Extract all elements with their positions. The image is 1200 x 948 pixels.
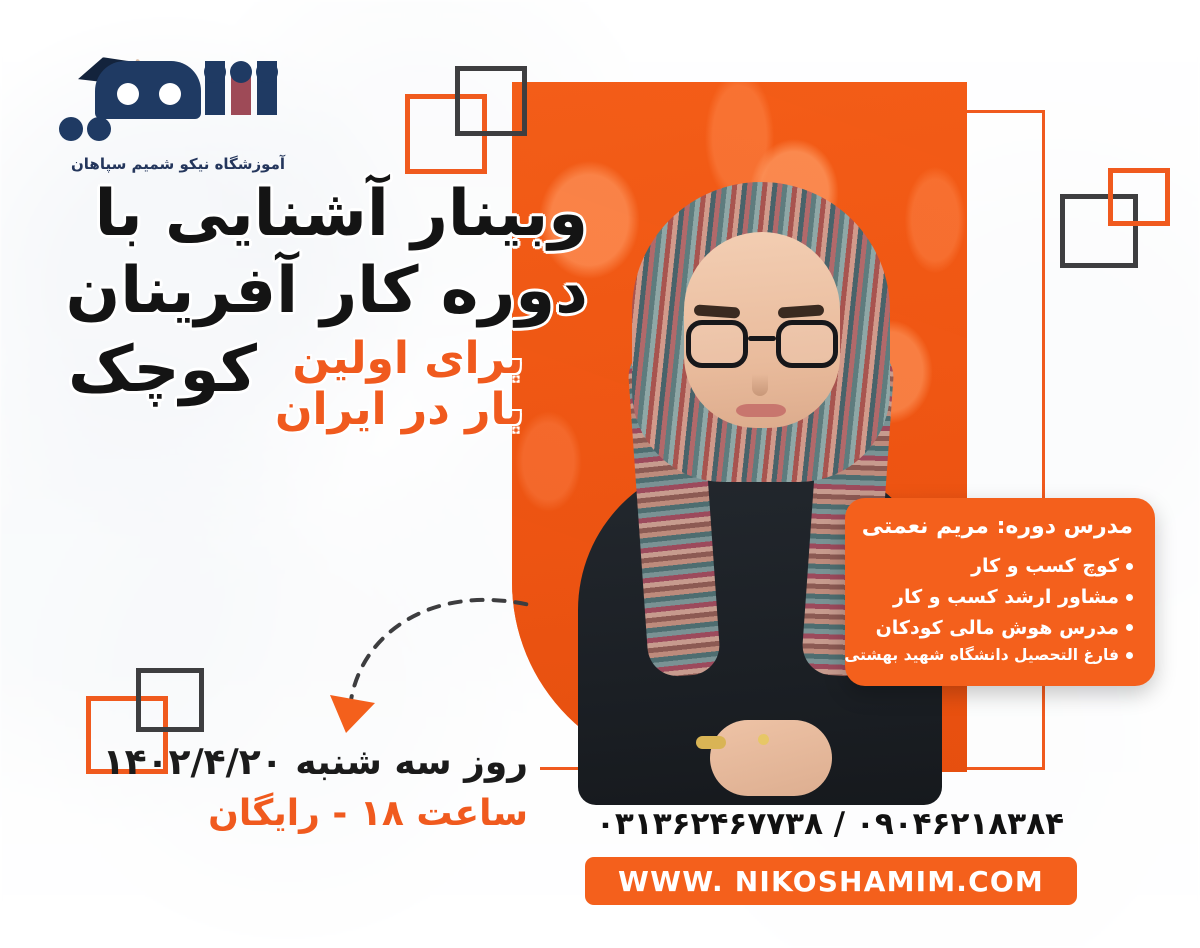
headline-line-3: کوچک — [68, 334, 257, 407]
phone-numbers[interactable]: ۰۳۱۳۶۲۴۶۷۷۳۸ / ۰۹۰۴۶۲۱۸۳۸۴ — [575, 806, 1085, 842]
glasses-bridge — [748, 336, 776, 341]
decor-square-gray — [136, 668, 204, 732]
list-item: فارغ التحصیل دانشگاه شهید بهشتی — [867, 643, 1133, 668]
instructor-portrait — [560, 160, 960, 800]
bullet-icon — [1126, 594, 1133, 601]
headline-subtext-b: بار در ایران — [275, 385, 524, 436]
logo-letter-shape — [95, 61, 201, 119]
webinar-poster: آموزشگاه نیکو شمیم سپاهان وبینار آشنایی … — [0, 0, 1200, 948]
list-item: کوچ کسب و کار — [867, 551, 1133, 582]
portrait-clasped-hands — [710, 720, 832, 796]
instructor-name: مدرس دوره: مریم نعمتی — [867, 514, 1133, 539]
glasses-icon — [686, 320, 838, 368]
schedule-block: روز سه شنبه ۱۴۰۲/۴/۲۰ ساعت ۱۸ - رایگان — [128, 740, 528, 836]
headline-block: وبینار آشنایی با دوره کار آفرینان برای ا… — [68, 178, 588, 435]
bullet-icon — [1126, 624, 1133, 631]
logo-underdot-1 — [59, 117, 83, 141]
credential-label: کوچ کسب و کار — [971, 551, 1119, 582]
brand-logo[interactable]: آموزشگاه نیکو شمیم سپاهان — [55, 55, 285, 175]
dashed-curved-arrow-icon — [300, 575, 570, 740]
logo-dot-1 — [204, 61, 226, 83]
logo-counter-1 — [117, 83, 139, 105]
headline-line-1: وبینار آشنایی با — [68, 178, 588, 251]
website-url: WWW. NIKOSHAMIM.COM — [618, 865, 1044, 898]
credential-label: مدرس هوش مالی کودکان — [876, 613, 1119, 644]
schedule-time-price: ساعت ۱۸ - رایگان — [128, 791, 528, 836]
bullet-icon — [1126, 652, 1133, 659]
logo-dot-2 — [230, 61, 252, 83]
credential-label: فارغ التحصیل دانشگاه شهید بهشتی — [844, 643, 1119, 668]
portrait-mouth — [736, 404, 786, 417]
headline-subtext: برای اولین بار در ایران — [275, 334, 524, 435]
list-item: مدرس هوش مالی کودکان — [867, 613, 1133, 644]
instructor-info-box: مدرس دوره: مریم نعمتی کوچ کسب و کار مشاو… — [845, 498, 1155, 686]
portrait-bracelet — [696, 736, 726, 749]
portrait-ring — [758, 734, 769, 745]
logo-underdot-2 — [87, 117, 111, 141]
headline-line-3-row: برای اولین بار در ایران کوچک — [68, 334, 588, 435]
headline-line-2: دوره کار آفرینان — [68, 255, 588, 328]
schedule-date: روز سه شنبه ۱۴۰۲/۴/۲۰ — [128, 740, 528, 785]
bullet-icon — [1126, 563, 1133, 570]
list-item: مشاور ارشد کسب و کار — [867, 582, 1133, 613]
portrait-nose — [752, 374, 768, 396]
credential-label: مشاور ارشد کسب و کار — [893, 582, 1119, 613]
logo-dot-3 — [256, 61, 278, 83]
logo-subtitle: آموزشگاه نیکو شمیم سپاهان — [71, 155, 285, 173]
decor-squares-top-left — [405, 66, 530, 176]
glasses-lens-right — [776, 320, 838, 368]
instructor-credentials-list: کوچ کسب و کار مشاور ارشد کسب و کار مدرس … — [867, 551, 1133, 668]
decor-square-orange — [1108, 168, 1170, 226]
decor-square-gray — [455, 66, 527, 136]
decor-squares-top-right — [1060, 168, 1175, 268]
website-button[interactable]: WWW. NIKOSHAMIM.COM — [585, 857, 1077, 905]
glasses-lens-left — [686, 320, 748, 368]
logo-wordmark-icon — [55, 55, 285, 141]
logo-counter-2 — [159, 83, 181, 105]
headline-subtext-a: برای اولین — [275, 334, 524, 385]
